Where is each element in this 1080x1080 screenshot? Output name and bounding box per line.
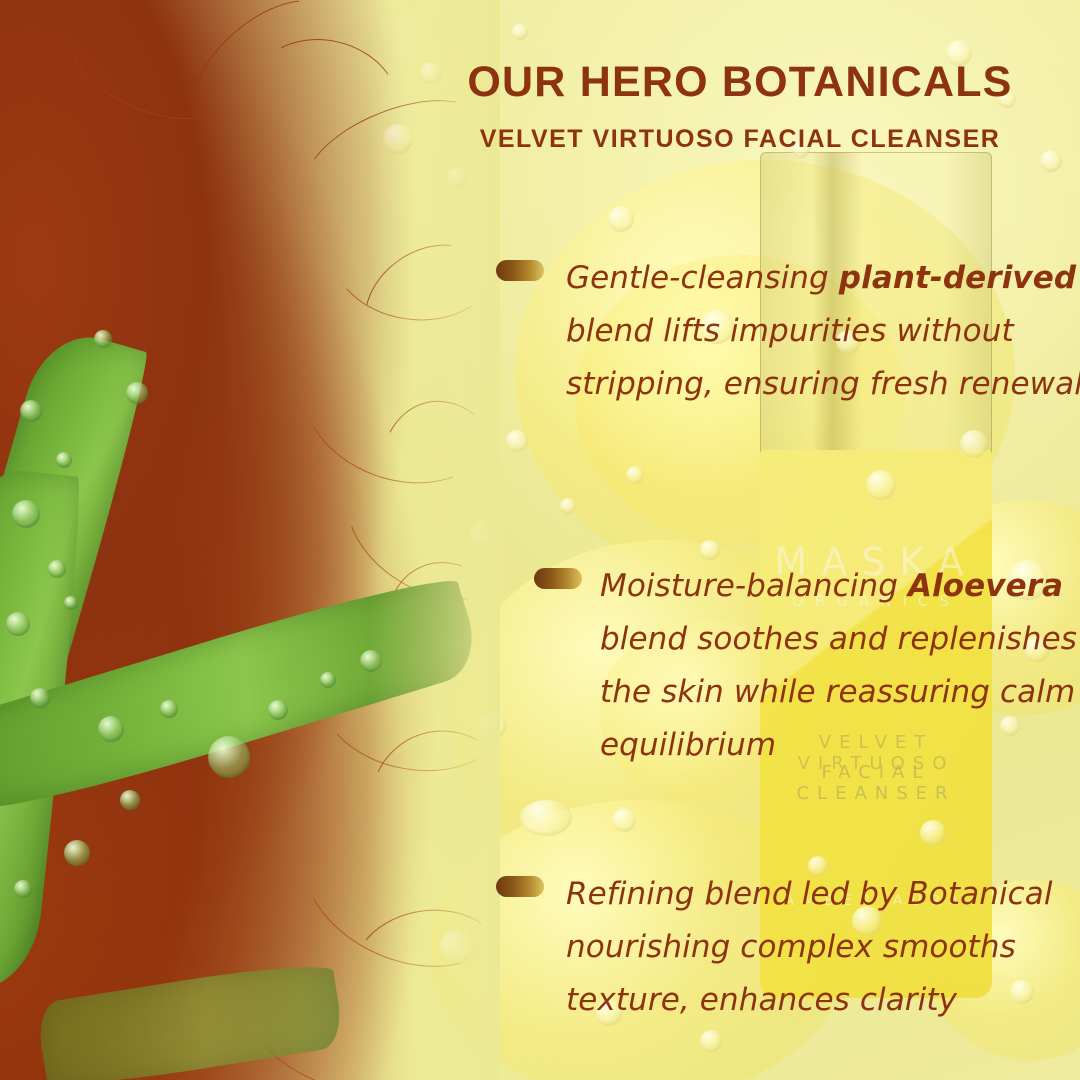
bullet-tail-text: blend lifts impurities without stripping… — [566, 313, 1080, 402]
bullet-tail-text: blend soothes and replenishes the skin w… — [600, 621, 1077, 763]
list-item: Gentle-cleansing plant-derived blend lif… — [496, 252, 1080, 411]
bullet-lead-text: Refining blend led by Botanical nourishi… — [566, 876, 1053, 1018]
bullet-lead-text: Moisture-balancing — [600, 568, 908, 604]
bullet-emphasis-text: Aloevera — [908, 568, 1063, 604]
poster-canvas: MASKA ORGANICS VELVET VIRTUOSO FACIAL CL… — [0, 0, 1080, 1080]
list-item: Moisture-balancing Aloevera blend soothe… — [534, 560, 1080, 772]
list-item-text: Refining blend led by Botanical nourishi… — [566, 868, 1080, 1027]
list-item-text: Gentle-cleansing plant-derived blend lif… — [566, 252, 1080, 411]
benefits-list: Gentle-cleansing plant-derived blend lif… — [0, 0, 1080, 1080]
list-item-text: Moisture-balancing Aloevera blend soothe… — [600, 560, 1080, 772]
list-item: Refining blend led by Botanical nourishi… — [496, 868, 1080, 1027]
bullet-lead-text: Gentle-cleansing — [566, 260, 839, 296]
bullet-emphasis-text: plant-derived — [839, 260, 1076, 296]
pill-marker-icon — [496, 876, 544, 897]
pill-marker-icon — [534, 568, 582, 589]
pill-marker-icon — [496, 260, 544, 281]
